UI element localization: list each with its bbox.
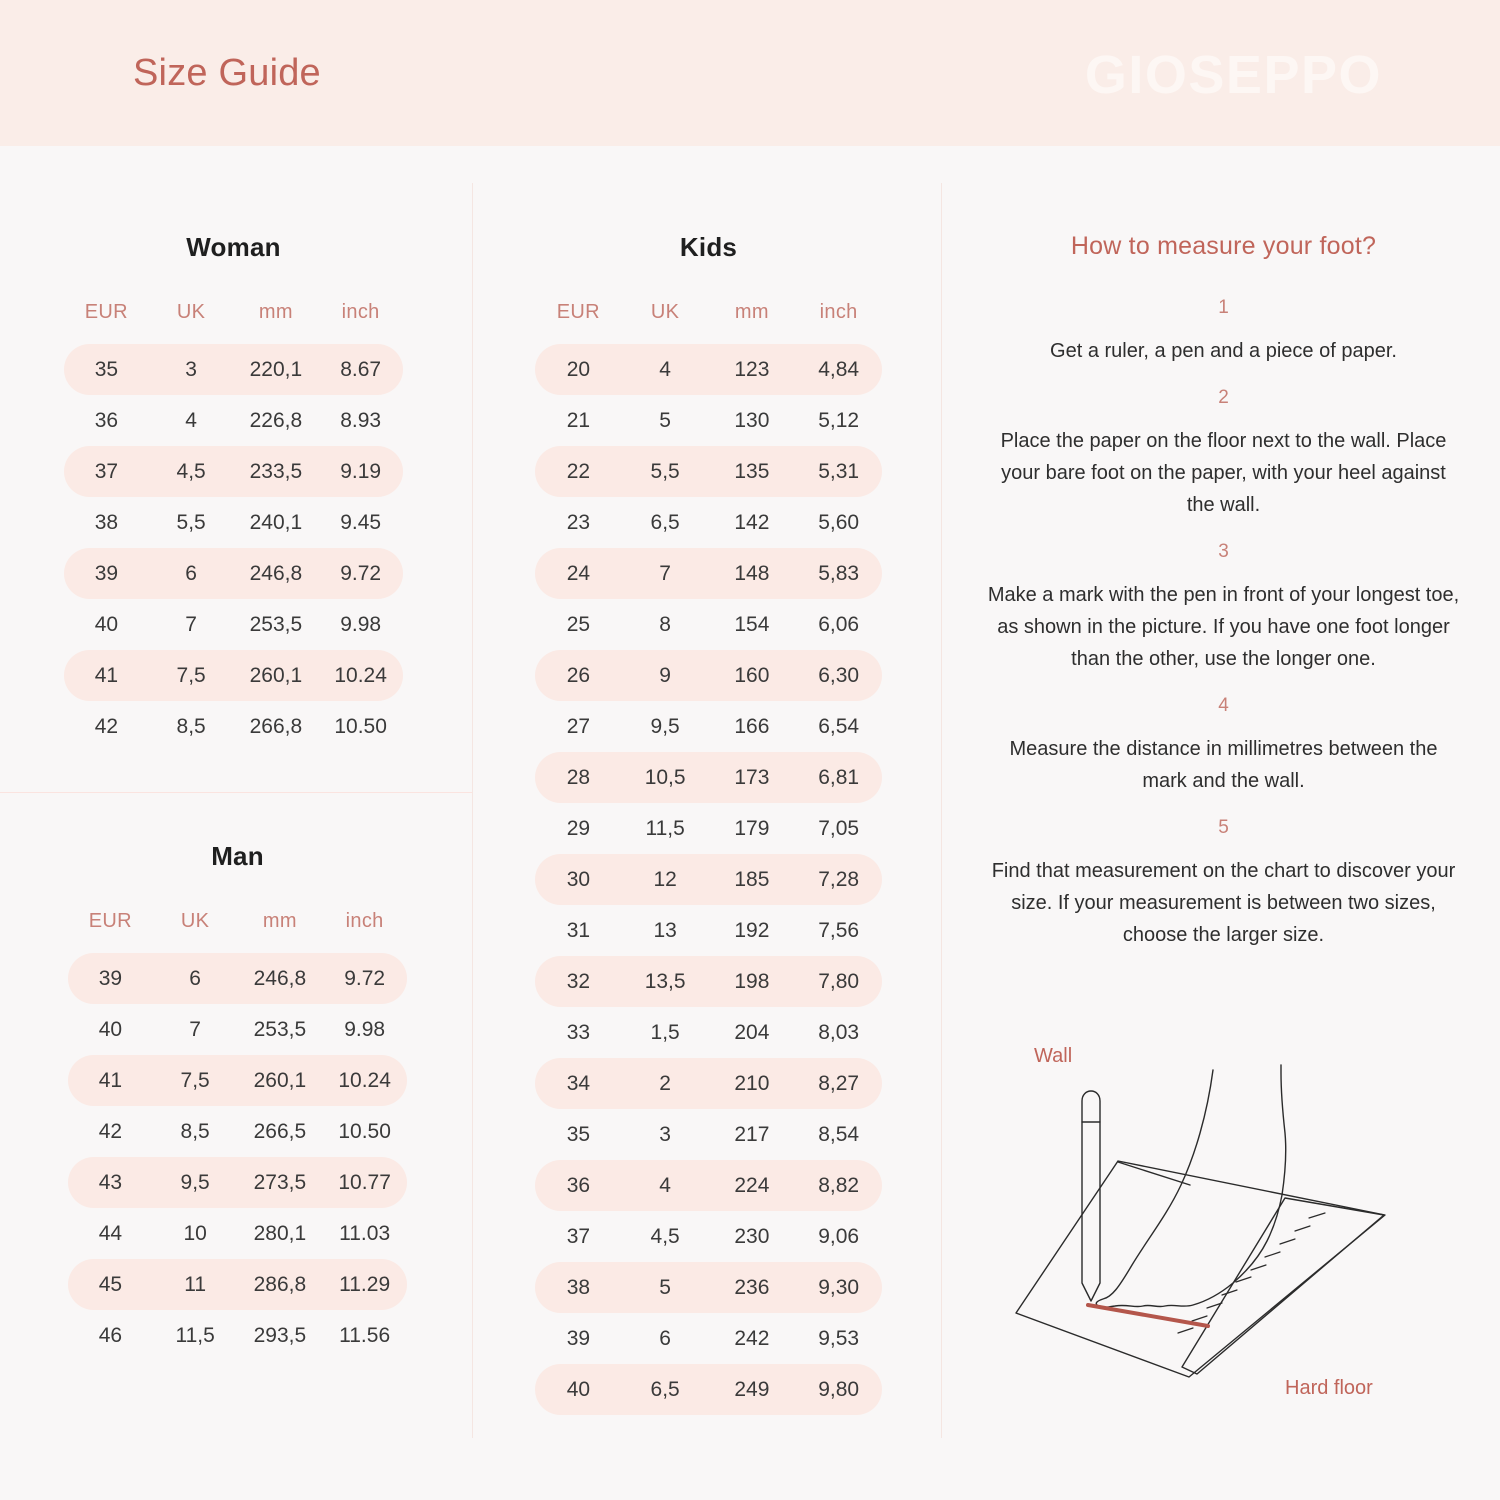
table-cell-mm: 280,1 (238, 1208, 323, 1259)
table-cell-inch: 7,05 (795, 803, 882, 854)
table-cell-mm: 154 (709, 599, 796, 650)
table-cell-mm: 253,5 (234, 599, 319, 650)
table-row: 3213,51987,80 (535, 956, 882, 1007)
table-cell-mm: 266,8 (234, 701, 319, 752)
foot-measuring-illustration: Wall Hard floor (985, 1025, 1465, 1425)
table-cell-eur: 40 (68, 1004, 153, 1055)
measure-step: 4Measure the distance in millimetres bet… (985, 695, 1462, 797)
table-cell-mm: 253,5 (238, 1004, 323, 1055)
table-row: 374,5233,59.19 (64, 446, 403, 497)
table-cell-uk: 6 (622, 1313, 709, 1364)
page-header: Size Guide GIOSEPPO (0, 0, 1500, 146)
step-text: Place the paper on the floor next to the… (985, 425, 1462, 521)
size-table-woman: Woman EUR UK mm inch 353220,18.67364226,… (64, 232, 403, 752)
table-header-row: EUR UK mm inch (535, 301, 882, 344)
table-cell-inch: 10.50 (318, 701, 403, 752)
table-row: 385,5240,19.45 (64, 497, 403, 548)
table-cell-inch: 9,53 (795, 1313, 882, 1364)
table-cell-inch: 6,06 (795, 599, 882, 650)
table-cell-inch: 5,12 (795, 395, 882, 446)
how-to-measure-title: How to measure your foot? (985, 232, 1462, 261)
table-cell-uk: 5,5 (622, 446, 709, 497)
table-cell-uk: 1,5 (622, 1007, 709, 1058)
table-cell-mm: 192 (709, 905, 796, 956)
table-title-kids: Kids (535, 232, 882, 263)
table-cell-inch: 8,54 (795, 1109, 882, 1160)
horizontal-divider (0, 792, 472, 793)
table-cell-eur: 34 (535, 1058, 622, 1109)
table-cell-uk: 13 (622, 905, 709, 956)
table-cell-uk: 11,5 (153, 1310, 238, 1361)
table-cell-eur: 41 (64, 650, 149, 701)
table-cell-eur: 42 (64, 701, 149, 752)
table-cell-mm: 249 (709, 1364, 796, 1415)
table-row: 374,52309,06 (535, 1211, 882, 1262)
table-cell-uk: 4 (622, 344, 709, 395)
table-cell-uk: 5,5 (149, 497, 234, 548)
table-cell-mm: 260,1 (234, 650, 319, 701)
table-cell-mm: 185 (709, 854, 796, 905)
table-cell-mm: 148 (709, 548, 796, 599)
step-number: 3 (985, 541, 1462, 563)
table-cell-eur: 46 (68, 1310, 153, 1361)
table-cell-inch: 6,81 (795, 752, 882, 803)
table-cell-inch: 9,06 (795, 1211, 882, 1262)
table-cell-eur: 36 (64, 395, 149, 446)
table-cell-uk: 4,5 (149, 446, 234, 497)
table-row: 364226,88.93 (64, 395, 403, 446)
table-cell-eur: 45 (68, 1259, 153, 1310)
table-title-man: Man (68, 841, 407, 872)
column-header-mm: mm (234, 301, 319, 344)
table-row: 3422108,27 (535, 1058, 882, 1109)
table-row: 2151305,12 (535, 395, 882, 446)
table-row: 236,51425,60 (535, 497, 882, 548)
table-row: 3852369,30 (535, 1262, 882, 1313)
table-cell-mm: 198 (709, 956, 796, 1007)
table-cell-mm: 135 (709, 446, 796, 497)
table-row: 2581546,06 (535, 599, 882, 650)
page-title: Size Guide (133, 52, 321, 95)
table-cell-uk: 5 (622, 395, 709, 446)
step-number: 5 (985, 817, 1462, 839)
table-row: 2041234,84 (535, 344, 882, 395)
table-cell-eur: 39 (535, 1313, 622, 1364)
table-cell-uk: 4,5 (622, 1211, 709, 1262)
column-header-uk: UK (153, 910, 238, 953)
table-cell-eur: 38 (535, 1262, 622, 1313)
table-cell-inch: 9,80 (795, 1364, 882, 1415)
table-cell-mm: 123 (709, 344, 796, 395)
table-row: 353220,18.67 (64, 344, 403, 395)
table-cell-inch: 10.24 (322, 1055, 407, 1106)
column-header-eur: EUR (535, 301, 622, 344)
table-cell-eur: 25 (535, 599, 622, 650)
table-body-kids: 2041234,842151305,12225,51355,31236,5142… (535, 344, 882, 1415)
table-cell-uk: 7 (622, 548, 709, 599)
table-cell-inch: 6,30 (795, 650, 882, 701)
table-cell-eur: 37 (64, 446, 149, 497)
table-row: 396246,89.72 (64, 548, 403, 599)
table-row: 428,5266,510.50 (68, 1106, 407, 1157)
step-text: Find that measurement on the chart to di… (985, 855, 1462, 951)
paper-edges (1016, 1161, 1385, 1377)
table-cell-inch: 4,84 (795, 344, 882, 395)
table-cell-uk: 7 (153, 1004, 238, 1055)
table-cell-mm: 286,8 (238, 1259, 323, 1310)
table-cell-eur: 26 (535, 650, 622, 701)
table-cell-eur: 44 (68, 1208, 153, 1259)
table-cell-mm: 130 (709, 395, 796, 446)
table-cell-uk: 11 (153, 1259, 238, 1310)
table-cell-uk: 3 (622, 1109, 709, 1160)
table-cell-eur: 40 (64, 599, 149, 650)
table-cell-mm: 204 (709, 1007, 796, 1058)
table-cell-mm: 240,1 (234, 497, 319, 548)
table-cell-uk: 9,5 (153, 1157, 238, 1208)
table-cell-eur: 35 (64, 344, 149, 395)
table-cell-inch: 10.50 (322, 1106, 407, 1157)
column-header-inch: inch (795, 301, 882, 344)
table-cell-inch: 8,03 (795, 1007, 882, 1058)
column-header-inch: inch (318, 301, 403, 344)
table-cell-eur: 21 (535, 395, 622, 446)
table-cell-uk: 5 (622, 1262, 709, 1313)
table-cell-inch: 9.72 (322, 953, 407, 1004)
measure-step: 3Make a mark with the pen in front of yo… (985, 541, 1462, 675)
column-header-mm: mm (238, 910, 323, 953)
vertical-divider-left (472, 183, 473, 1438)
table-cell-eur: 31 (535, 905, 622, 956)
table-cell-uk: 8 (622, 599, 709, 650)
table-cell-inch: 11.56 (322, 1310, 407, 1361)
table-cell-inch: 8,82 (795, 1160, 882, 1211)
table-row: 3962429,53 (535, 1313, 882, 1364)
table-cell-uk: 10,5 (622, 752, 709, 803)
pencil (1082, 1091, 1100, 1301)
table-cell-uk: 9,5 (622, 701, 709, 752)
table-cell-mm: 293,5 (238, 1310, 323, 1361)
table-row: 417,5260,110.24 (68, 1055, 407, 1106)
table-cell-inch: 7,28 (795, 854, 882, 905)
table-cell-eur: 36 (535, 1160, 622, 1211)
step-text: Get a ruler, a pen and a piece of paper. (985, 335, 1462, 367)
table-cell-uk: 6,5 (622, 497, 709, 548)
table-row: 2691606,30 (535, 650, 882, 701)
table-cell-eur: 41 (68, 1055, 153, 1106)
table-woman: EUR UK mm inch 353220,18.67364226,88.933… (64, 301, 403, 752)
table-cell-uk: 7 (149, 599, 234, 650)
table-row: 417,5260,110.24 (64, 650, 403, 701)
table-cell-mm: 173 (709, 752, 796, 803)
table-cell-uk: 8,5 (153, 1106, 238, 1157)
table-cell-eur: 43 (68, 1157, 153, 1208)
measure-step: 2Place the paper on the floor next to th… (985, 387, 1462, 521)
table-cell-mm: 160 (709, 650, 796, 701)
table-row: 331,52048,03 (535, 1007, 882, 1058)
table-cell-inch: 5,83 (795, 548, 882, 599)
how-to-measure-panel: How to measure your foot? 1Get a ruler, … (985, 232, 1462, 971)
table-cell-inch: 8,27 (795, 1058, 882, 1109)
table-body-woman: 353220,18.67364226,88.93374,5233,59.1938… (64, 344, 403, 752)
step-text: Make a mark with the pen in front of you… (985, 579, 1462, 675)
illustration-drawing (985, 1025, 1465, 1425)
table-cell-uk: 4 (622, 1160, 709, 1211)
table-header-row: EUR UK mm inch (64, 301, 403, 344)
table-row: 31131927,56 (535, 905, 882, 956)
table-cell-uk: 7,5 (153, 1055, 238, 1106)
table-cell-mm: 233,5 (234, 446, 319, 497)
table-cell-uk: 8,5 (149, 701, 234, 752)
table-cell-inch: 9.98 (318, 599, 403, 650)
table-cell-uk: 11,5 (622, 803, 709, 854)
measure-step: 5Find that measurement on the chart to d… (985, 817, 1462, 951)
table-cell-mm: 246,8 (234, 548, 319, 599)
table-cell-inch: 5,60 (795, 497, 882, 548)
table-cell-eur: 30 (535, 854, 622, 905)
table-cell-mm: 224 (709, 1160, 796, 1211)
table-cell-inch: 9.98 (322, 1004, 407, 1055)
table-cell-mm: 220,1 (234, 344, 319, 395)
table-cell-uk: 12 (622, 854, 709, 905)
table-cell-mm: 266,5 (238, 1106, 323, 1157)
table-row: 2911,51797,05 (535, 803, 882, 854)
table-row: 30121857,28 (535, 854, 882, 905)
column-header-uk: UK (149, 301, 234, 344)
table-row: 407253,59.98 (64, 599, 403, 650)
table-row: 428,5266,810.50 (64, 701, 403, 752)
measure-steps-list: 1Get a ruler, a pen and a piece of paper… (985, 297, 1462, 951)
step-number: 1 (985, 297, 1462, 319)
table-body-man: 396246,89.72407253,59.98417,5260,110.244… (68, 953, 407, 1361)
table-cell-mm: 242 (709, 1313, 796, 1364)
size-guide-page: Size Guide GIOSEPPO Woman EUR UK mm inch… (0, 0, 1500, 1500)
table-cell-inch: 10.24 (318, 650, 403, 701)
table-row: 2471485,83 (535, 548, 882, 599)
table-cell-eur: 22 (535, 446, 622, 497)
table-cell-eur: 20 (535, 344, 622, 395)
table-cell-eur: 32 (535, 956, 622, 1007)
table-title-woman: Woman (64, 232, 403, 263)
table-cell-inch: 8.93 (318, 395, 403, 446)
table-cell-uk: 4 (149, 395, 234, 446)
table-cell-inch: 11.29 (322, 1259, 407, 1310)
table-cell-mm: 179 (709, 803, 796, 854)
table-kids: EUR UK mm inch 2041234,842151305,12225,5… (535, 301, 882, 1415)
table-row: 4511286,811.29 (68, 1259, 407, 1310)
table-row: 3642248,82 (535, 1160, 882, 1211)
table-header-row: EUR UK mm inch (68, 910, 407, 953)
table-row: 225,51355,31 (535, 446, 882, 497)
table-cell-uk: 7,5 (149, 650, 234, 701)
table-cell-eur: 28 (535, 752, 622, 803)
table-cell-inch: 7,80 (795, 956, 882, 1007)
size-table-kids: Kids EUR UK mm inch 2041234,842151305,12… (535, 232, 882, 1415)
table-cell-inch: 6,54 (795, 701, 882, 752)
table-row: 407253,59.98 (68, 1004, 407, 1055)
step-number: 2 (985, 387, 1462, 409)
table-row: 2810,51736,81 (535, 752, 882, 803)
table-row: 279,51666,54 (535, 701, 882, 752)
table-cell-inch: 7,56 (795, 905, 882, 956)
table-cell-uk: 3 (149, 344, 234, 395)
table-cell-inch: 11.03 (322, 1208, 407, 1259)
table-row: 396246,89.72 (68, 953, 407, 1004)
table-cell-mm: 217 (709, 1109, 796, 1160)
table-cell-eur: 27 (535, 701, 622, 752)
table-cell-mm: 230 (709, 1211, 796, 1262)
column-header-uk: UK (622, 301, 709, 344)
table-cell-inch: 9,30 (795, 1262, 882, 1313)
table-cell-eur: 38 (64, 497, 149, 548)
table-cell-inch: 8.67 (318, 344, 403, 395)
table-cell-uk: 6 (149, 548, 234, 599)
column-header-eur: EUR (68, 910, 153, 953)
measure-step: 1Get a ruler, a pen and a piece of paper… (985, 297, 1462, 367)
size-table-man: Man EUR UK mm inch 396246,89.72407253,59… (68, 841, 407, 1361)
table-cell-uk: 2 (622, 1058, 709, 1109)
column-header-eur: EUR (64, 301, 149, 344)
table-cell-mm: 166 (709, 701, 796, 752)
table-cell-uk: 9 (622, 650, 709, 701)
table-row: 4410280,111.03 (68, 1208, 407, 1259)
table-cell-mm: 236 (709, 1262, 796, 1313)
table-cell-mm: 226,8 (234, 395, 319, 446)
vertical-divider-right (941, 183, 942, 1438)
table-cell-mm: 246,8 (238, 953, 323, 1004)
table-cell-uk: 10 (153, 1208, 238, 1259)
table-cell-eur: 24 (535, 548, 622, 599)
step-number: 4 (985, 695, 1462, 717)
table-cell-uk: 13,5 (622, 956, 709, 1007)
table-row: 406,52499,80 (535, 1364, 882, 1415)
table-cell-eur: 29 (535, 803, 622, 854)
column-header-inch: inch (322, 910, 407, 953)
table-cell-eur: 39 (64, 548, 149, 599)
table-cell-inch: 9.45 (318, 497, 403, 548)
table-cell-mm: 210 (709, 1058, 796, 1109)
table-row: 3532178,54 (535, 1109, 882, 1160)
table-cell-inch: 9.19 (318, 446, 403, 497)
table-cell-uk: 6,5 (622, 1364, 709, 1415)
table-cell-eur: 37 (535, 1211, 622, 1262)
step-text: Measure the distance in millimetres betw… (985, 733, 1462, 797)
brand-logo: GIOSEPPO (1085, 44, 1382, 106)
table-cell-inch: 10.77 (322, 1157, 407, 1208)
table-cell-eur: 35 (535, 1109, 622, 1160)
table-cell-inch: 5,31 (795, 446, 882, 497)
table-row: 4611,5293,511.56 (68, 1310, 407, 1361)
table-cell-eur: 42 (68, 1106, 153, 1157)
table-cell-eur: 39 (68, 953, 153, 1004)
column-header-mm: mm (709, 301, 796, 344)
table-cell-inch: 9.72 (318, 548, 403, 599)
table-cell-eur: 23 (535, 497, 622, 548)
table-cell-eur: 33 (535, 1007, 622, 1058)
table-cell-uk: 6 (153, 953, 238, 1004)
table-cell-mm: 142 (709, 497, 796, 548)
table-cell-eur: 40 (535, 1364, 622, 1415)
table-cell-mm: 260,1 (238, 1055, 323, 1106)
foot-outline (1096, 1065, 1286, 1307)
table-cell-mm: 273,5 (238, 1157, 323, 1208)
table-man: EUR UK mm inch 396246,89.72407253,59.984… (68, 910, 407, 1361)
table-row: 439,5273,510.77 (68, 1157, 407, 1208)
